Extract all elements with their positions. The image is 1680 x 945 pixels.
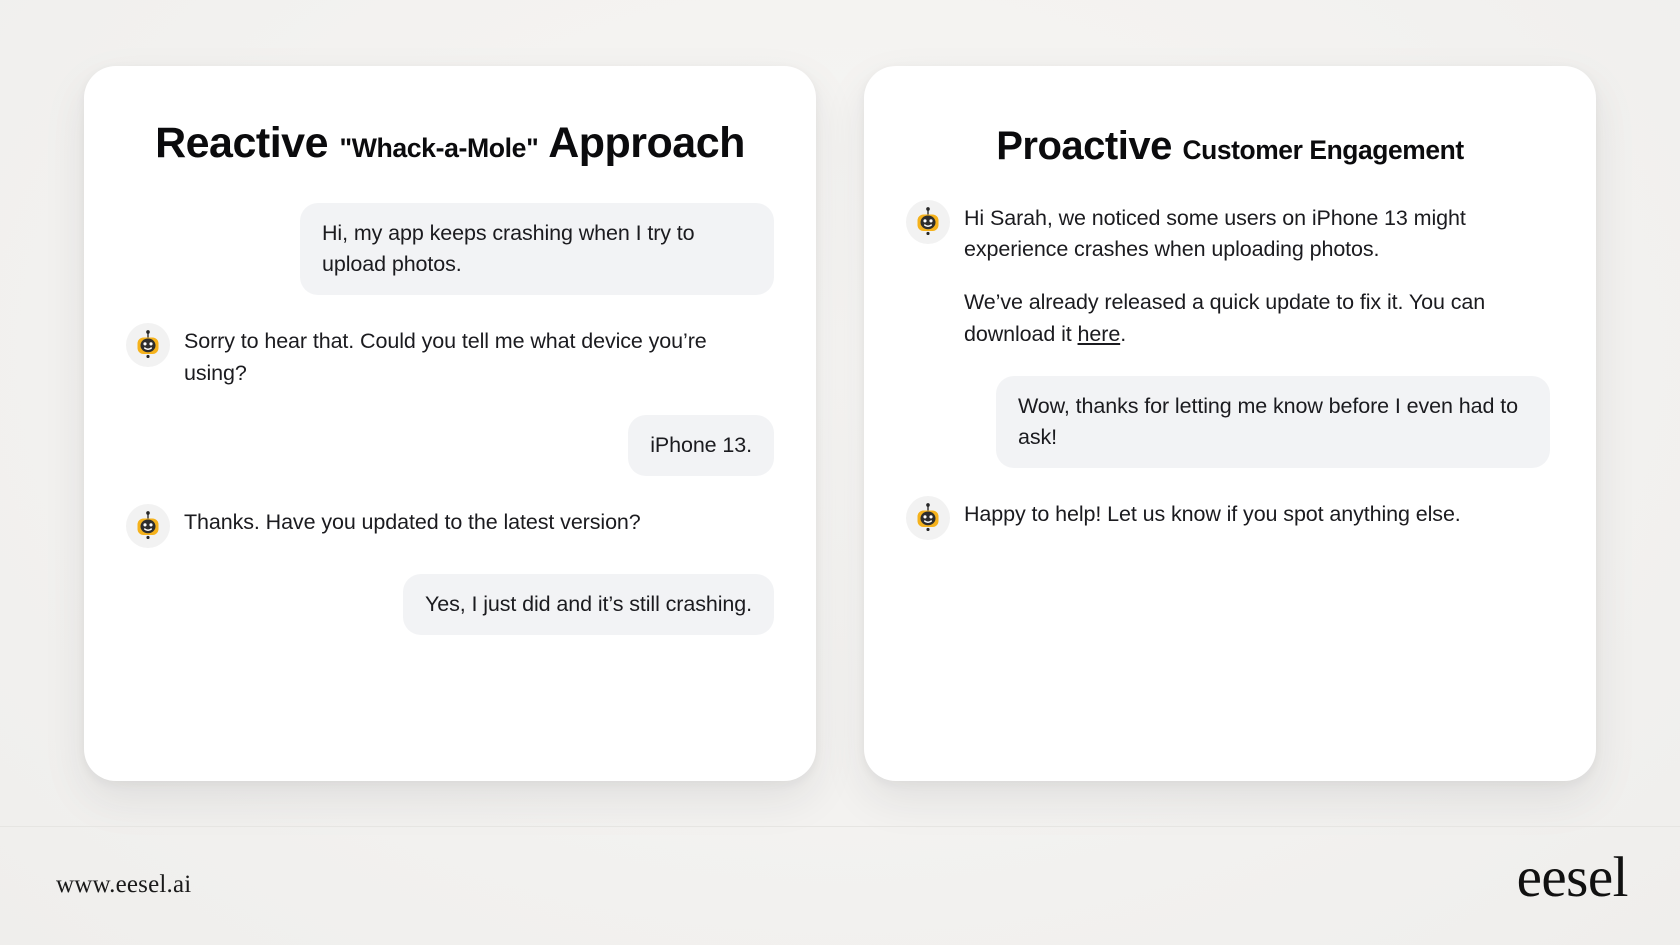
message-bubble: iPhone 13. (628, 415, 774, 476)
panel-proactive-title: Proactive Customer Engagement (864, 126, 1596, 166)
chat-message-user: Hi, my app keeps crashing when I try to … (126, 203, 774, 295)
chat-message-bot: Happy to help! Let us know if you spot a… (906, 494, 1554, 540)
footer: www.eesel.ai eesel (0, 826, 1680, 945)
chat-message-user: Yes, I just did and it’s still crashing. (126, 574, 774, 635)
message-text: Happy to help! Let us know if you spot a… (964, 494, 1461, 530)
panel-reactive-title: Reactive "Whack-a-Mole" Approach (84, 122, 816, 165)
message-text: Thanks. Have you updated to the latest v… (184, 502, 641, 538)
message-bubble: Yes, I just did and it’s still crashing. (403, 574, 774, 635)
panel-proactive: Proactive Customer Engagement (864, 66, 1596, 781)
chat-message-bot: Hi Sarah, we noticed some users on iPhon… (906, 198, 1554, 350)
footer-url[interactable]: www.eesel.ai (56, 871, 191, 899)
message-bubble: Hi, my app keeps crashing when I try to … (300, 203, 774, 295)
page-root: Reactive "Whack-a-Mole" Approach Hi, my … (0, 0, 1680, 945)
chat-thread-reactive: Hi, my app keeps crashing when I try to … (84, 203, 816, 635)
comparison-panels: Reactive "Whack-a-Mole" Approach Hi, my … (84, 66, 1596, 781)
robot-avatar-icon (126, 323, 170, 367)
chat-message-user: iPhone 13. (126, 415, 774, 476)
message-paragraph-tail: . (1120, 322, 1126, 346)
title-quoted: "Whack-a-Mole" (339, 133, 538, 163)
download-link[interactable]: here (1078, 322, 1121, 346)
title-trail: Customer Engagement (1182, 135, 1463, 165)
message-paragraph: Hi Sarah, we noticed some users on iPhon… (964, 203, 1509, 265)
title-lead: Reactive (155, 119, 328, 167)
chat-message-bot: Thanks. Have you updated to the latest v… (126, 502, 774, 548)
eesel-logo: eesel (1517, 849, 1628, 906)
chat-message-user: Wow, thanks for letting me know before I… (906, 376, 1554, 468)
chat-thread-proactive: Hi Sarah, we noticed some users on iPhon… (864, 198, 1596, 540)
message-bubble: Wow, thanks for letting me know before I… (996, 376, 1550, 468)
panel-reactive: Reactive "Whack-a-Mole" Approach Hi, my … (84, 66, 816, 781)
robot-avatar-icon (126, 504, 170, 548)
chat-message-bot: Sorry to hear that. Could you tell me wh… (126, 321, 774, 388)
message-text: Hi Sarah, we noticed some users on iPhon… (964, 198, 1509, 350)
message-paragraph: We’ve already released a quick update to… (964, 287, 1509, 349)
message-text: Sorry to hear that. Could you tell me wh… (184, 321, 754, 388)
title-lead: Proactive (996, 124, 1172, 168)
title-trail: Approach (548, 119, 745, 167)
message-paragraph-lead: We’ve already released a quick update to… (964, 290, 1485, 345)
robot-avatar-icon (906, 496, 950, 540)
robot-avatar-icon (906, 200, 950, 244)
